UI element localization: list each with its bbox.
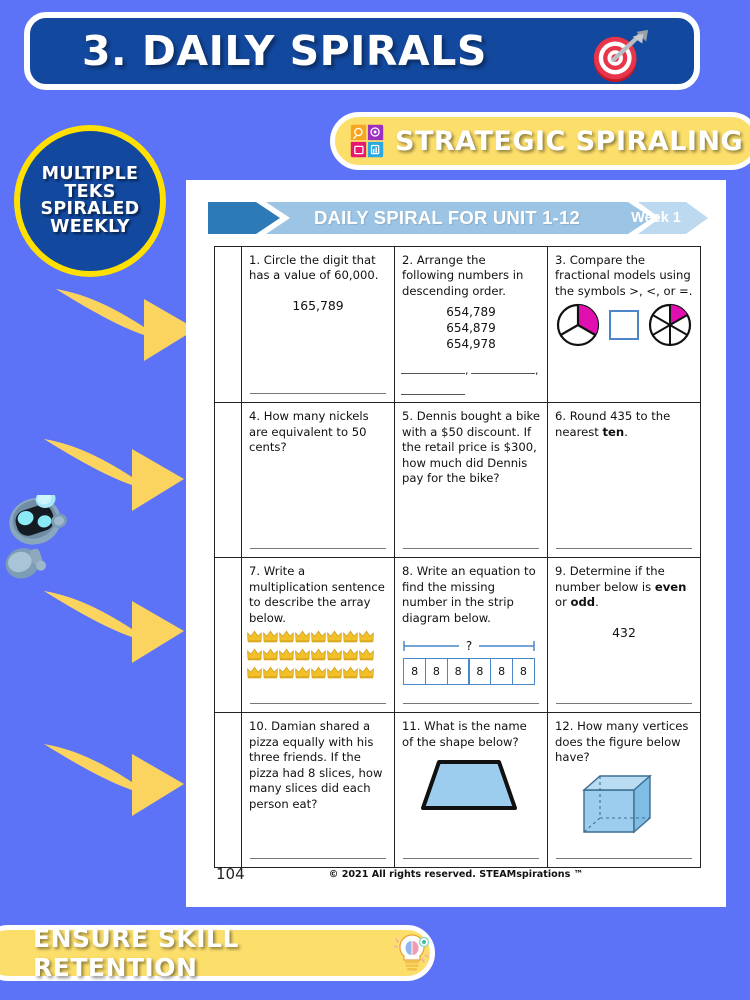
crown-array-figure bbox=[247, 630, 394, 683]
day-label-wednesday: WEDNESDAY bbox=[215, 558, 242, 713]
answer-line-9[interactable] bbox=[556, 703, 692, 704]
crown-icon bbox=[327, 630, 342, 643]
question-9-text-bold-odd: odd bbox=[571, 595, 596, 609]
question-cell-1[interactable]: 1. Circle the digit that has a value of … bbox=[242, 247, 395, 403]
crown-array-row bbox=[247, 666, 394, 684]
svg-text:?: ? bbox=[466, 639, 472, 653]
crown-icon bbox=[359, 630, 374, 643]
question-9-text-e: . bbox=[595, 595, 599, 609]
question-6-text-c: . bbox=[624, 425, 628, 439]
crown-icon bbox=[263, 630, 278, 643]
answer-line-10[interactable] bbox=[250, 858, 386, 859]
day-label-tuesday: TUESDAY bbox=[215, 403, 242, 558]
fraction-circle-sixths-icon bbox=[648, 303, 692, 347]
answer-line-6[interactable] bbox=[556, 548, 692, 549]
question-6-text: 6. Round 435 to the nearest ten. bbox=[548, 403, 700, 440]
question-9-text-a: 9. Determine if the number below is bbox=[555, 564, 665, 593]
answer-line-11[interactable] bbox=[403, 858, 539, 859]
crown-icon bbox=[311, 630, 326, 643]
page-title-bar: 3. DAILY SPIRALS bbox=[24, 12, 700, 90]
crown-icon bbox=[295, 630, 310, 643]
crown-icon bbox=[343, 630, 358, 643]
question-cell-6[interactable]: 6. Round 435 to the nearest ten. bbox=[548, 403, 701, 558]
question-7-text: 7. Write a multiplication sentence to de… bbox=[242, 558, 394, 626]
strip-box: 8 bbox=[512, 658, 535, 685]
answer-line-7[interactable] bbox=[250, 703, 386, 704]
crown-icon bbox=[311, 648, 326, 661]
question-12-text: 12. How many vertices does the figure be… bbox=[548, 713, 700, 765]
day-label-monday: MONDAY bbox=[215, 247, 242, 403]
table-row-tuesday: TUESDAY 4. How many nickels are equivale… bbox=[215, 403, 701, 558]
answer-line-5[interactable] bbox=[403, 548, 539, 549]
question-3-text: 3. Compare the fractional models using t… bbox=[548, 247, 700, 299]
table-row-monday: MONDAY 1. Circle the digit that has a va… bbox=[215, 247, 701, 403]
strip-box: 8 bbox=[468, 658, 491, 685]
question-cell-8[interactable]: 8. Write an equation to find the missing… bbox=[395, 558, 548, 713]
strip-boxes-row: 888888 bbox=[403, 658, 535, 685]
crown-icon bbox=[247, 648, 262, 661]
question-2-number-3: 654,978 bbox=[395, 337, 547, 353]
pointer-arrow-wednesday bbox=[28, 585, 188, 671]
question-6-text-bold: ten bbox=[603, 425, 625, 439]
ensure-skill-retention-label: ENSURE SKILL RETENTION bbox=[33, 924, 382, 982]
crown-icon bbox=[279, 666, 294, 679]
question-10-text: 10. Damian shared a pizza equally with h… bbox=[242, 713, 394, 811]
question-cell-4[interactable]: 4. How many nickels are equivalent to 50… bbox=[242, 403, 395, 558]
question-4-text: 4. How many nickels are equivalent to 50… bbox=[242, 403, 394, 455]
question-cell-10[interactable]: 10. Damian shared a pizza equally with h… bbox=[242, 713, 395, 868]
question-cell-2[interactable]: 2. Arrange the following numbers in desc… bbox=[395, 247, 548, 403]
question-2-number-1: 654,789 bbox=[395, 305, 547, 321]
crown-array-row bbox=[247, 630, 394, 648]
crown-icon bbox=[247, 630, 262, 643]
page-title: 3. DAILY SPIRALS bbox=[82, 27, 487, 75]
compare-symbol-box[interactable] bbox=[609, 310, 639, 340]
day-label-thursday: THURSDAY bbox=[215, 713, 242, 868]
question-cell-11[interactable]: 11. What is the name of the shape below? bbox=[395, 713, 548, 868]
answer-line-12[interactable] bbox=[556, 858, 692, 859]
daily-spiral-table: MONDAY 1. Circle the digit that has a va… bbox=[214, 246, 701, 868]
crown-icon bbox=[295, 648, 310, 661]
question-9-text-bold-even: even bbox=[655, 580, 687, 594]
strip-diagram-figure: ? 888888 bbox=[403, 638, 535, 685]
strip-box: 8 bbox=[447, 658, 470, 685]
target-dartboard-icon bbox=[590, 28, 652, 86]
table-row-wednesday: WEDNESDAY 7. Write a multiplication sent… bbox=[215, 558, 701, 713]
answer-line-8[interactable] bbox=[403, 703, 539, 704]
strip-total-bracket-icon: ? bbox=[403, 638, 535, 653]
question-cell-7[interactable]: 7. Write a multiplication sentence to de… bbox=[242, 558, 395, 713]
question-cell-12[interactable]: 12. How many vertices does the figure be… bbox=[548, 713, 701, 868]
copyright-notice: © 2021 All rights reserved. STEAMspirati… bbox=[186, 869, 726, 880]
strip-box: 8 bbox=[425, 658, 448, 685]
pointer-arrow-monday bbox=[40, 283, 200, 369]
brain-lightbulb-icon bbox=[394, 933, 430, 973]
fraction-models-group bbox=[556, 303, 700, 347]
teks-line-1: MULTIPLE bbox=[42, 166, 139, 184]
question-1-value: 165,789 bbox=[242, 298, 394, 313]
crown-icon bbox=[263, 648, 278, 661]
strip-box: 8 bbox=[490, 658, 513, 685]
table-row-thursday: THURSDAY 10. Damian shared a pizza equal… bbox=[215, 713, 701, 868]
crown-icon bbox=[295, 666, 310, 679]
question-8-text: 8. Write an equation to find the missing… bbox=[395, 558, 547, 626]
question-2-text: 2. Arrange the following numbers in desc… bbox=[395, 247, 547, 299]
ensure-skill-retention-badge: ENSURE SKILL RETENTION bbox=[0, 925, 435, 981]
question-2-answer-blanks[interactable]: , , bbox=[395, 361, 547, 403]
answer-line-4[interactable] bbox=[250, 548, 386, 549]
teks-line-4: WEEKLY bbox=[50, 219, 130, 237]
four-quadrant-subjects-icon bbox=[349, 123, 385, 159]
question-9-value: 432 bbox=[548, 625, 700, 640]
pointer-arrow-thursday bbox=[28, 738, 188, 824]
strategic-spiraling-badge: STRATEGIC SPIRALING bbox=[330, 112, 750, 170]
crown-icon bbox=[279, 648, 294, 661]
worksheet-week-label: Week 1 bbox=[618, 207, 694, 229]
question-1-text: 1. Circle the digit that has a value of … bbox=[242, 247, 394, 284]
trapezoid-figure-icon bbox=[413, 758, 523, 814]
question-9-text: 9. Determine if the number below is even… bbox=[548, 558, 700, 610]
strategic-spiraling-label: STRATEGIC SPIRALING bbox=[395, 126, 743, 157]
fraction-circle-thirds-icon bbox=[556, 303, 600, 347]
day-label-tuesday-text: TUESDAY bbox=[215, 403, 241, 517]
crown-icon bbox=[359, 666, 374, 679]
crown-icon bbox=[279, 630, 294, 643]
crown-icon bbox=[311, 666, 326, 679]
worksheet-page: DAILY SPIRAL FOR UNIT 1-12 Week 1 MONDAY… bbox=[186, 180, 726, 907]
question-5-text: 5. Dennis bought a bike with a $50 disco… bbox=[395, 403, 547, 486]
question-cell-5[interactable]: 5. Dennis bought a bike with a $50 disco… bbox=[395, 403, 548, 558]
answer-line-1[interactable] bbox=[250, 393, 386, 394]
question-2-numbers: 654,789 654,879 654,978 bbox=[395, 305, 547, 352]
question-11-text: 11. What is the name of the shape below? bbox=[395, 713, 547, 750]
crown-icon bbox=[327, 648, 342, 661]
crown-icon bbox=[327, 666, 342, 679]
worksheet-title: DAILY SPIRAL FOR UNIT 1-12 bbox=[282, 205, 612, 231]
crown-icon bbox=[343, 648, 358, 661]
day-label-thursday-text: THURSDAY bbox=[215, 713, 241, 842]
multiple-teks-badge: MULTIPLE TEKS SPIRALED WEEKLY bbox=[14, 125, 166, 277]
day-label-monday-text: MONDAY bbox=[215, 247, 241, 346]
question-9-text-c: or bbox=[555, 595, 571, 609]
strip-box: 8 bbox=[403, 658, 426, 685]
day-label-wednesday-text: WEDNESDAY bbox=[215, 558, 241, 703]
crown-icon bbox=[263, 666, 278, 679]
question-cell-3[interactable]: 3. Compare the fractional models using t… bbox=[548, 247, 701, 403]
crown-icon bbox=[343, 666, 358, 679]
crown-array-row bbox=[247, 648, 394, 666]
question-2-number-2: 654,879 bbox=[395, 321, 547, 337]
teks-line-3: SPIRALED bbox=[41, 201, 140, 219]
crown-icon bbox=[247, 666, 262, 679]
robot-mascot-icon bbox=[0, 495, 78, 585]
question-cell-9[interactable]: 9. Determine if the number below is even… bbox=[548, 558, 701, 713]
cube-figure-icon bbox=[576, 772, 662, 838]
crown-icon bbox=[359, 648, 374, 661]
